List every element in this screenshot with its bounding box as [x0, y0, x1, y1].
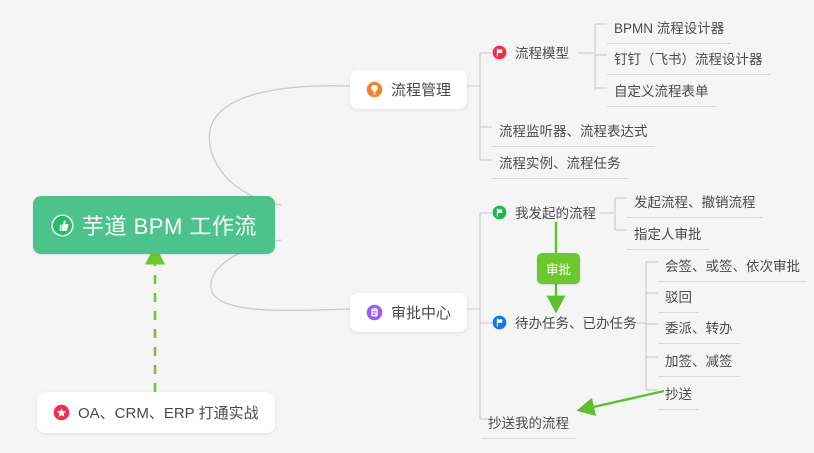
floating-node-label-oa-crm-erp: OA、CRM、ERP 打通实战: [78, 402, 259, 423]
link-root-to-process-management: [209, 86, 350, 205]
leaf-node-bpmn-designer[interactable]: BPMN 流程设计器: [607, 13, 731, 44]
leaf-node-dingtalk-feishu-designer[interactable]: 钉钉（飞书）流程设计器: [607, 44, 770, 75]
annotation-tag-approval-label: 审批: [546, 259, 571, 278]
leaf-label-carbon-copy: 抄送: [665, 383, 692, 403]
floating-node-oa-crm-erp[interactable]: OA、CRM、ERP 打通实战: [37, 392, 275, 433]
leaf-label-reject: 驳回: [665, 286, 692, 306]
branch-label-process-management: 流程管理: [391, 79, 451, 100]
thumbs-up-icon: [51, 214, 74, 237]
leaf-label-process-listener-expression: 流程监听器、流程表达式: [499, 120, 648, 140]
node-my-initiated-processes[interactable]: 我发起的流程: [492, 202, 596, 222]
lightbulb-icon: [366, 81, 383, 98]
leaf-label-custom-process-form: 自定义流程表单: [614, 80, 709, 100]
leaf-node-process-listener-expression[interactable]: 流程监听器、流程表达式: [492, 116, 655, 147]
leaf-node-custom-process-form[interactable]: 自定义流程表单: [607, 76, 716, 107]
leaf-label-delegate-transfer: 委派、转办: [665, 317, 733, 337]
node-process-model[interactable]: 流程模型: [492, 42, 569, 62]
node-todo-done-tasks[interactable]: 待办任务、已办任务: [492, 312, 637, 332]
node-label-todo-done-tasks: 待办任务、已办任务: [515, 312, 637, 332]
leaf-label-assignee-approval: 指定人审批: [634, 223, 702, 243]
leaf-label-bpmn-designer: BPMN 流程设计器: [614, 17, 724, 37]
mindmap-canvas: 芋道 BPM 工作流 流程管理 流程模型 BPMN 流程设计器 钉钉（飞书）流程: [0, 0, 814, 453]
leaf-node-delegate-transfer[interactable]: 委派、转办: [658, 313, 740, 344]
leaf-label-start-cancel-process: 发起流程、撤销流程: [634, 191, 756, 211]
node-label-process-model: 流程模型: [515, 42, 569, 62]
annotation-tag-approval[interactable]: 审批: [537, 253, 580, 284]
leaf-label-process-instance-task: 流程实例、流程任务: [499, 152, 621, 172]
leaf-node-assignee-approval[interactable]: 指定人审批: [627, 219, 709, 250]
leaf-node-add-remove-sign[interactable]: 加签、减签: [658, 346, 740, 377]
leaf-label-cc-to-me-processes: 抄送我的流程: [488, 412, 569, 432]
branch-node-process-management[interactable]: 流程管理: [350, 70, 467, 109]
root-node[interactable]: 芋道 BPM 工作流: [33, 196, 275, 254]
branch-label-approval-center: 审批中心: [391, 302, 451, 323]
star-icon: [53, 404, 70, 421]
flag-icon: [492, 45, 507, 60]
clipboard-icon: [366, 304, 383, 321]
leaf-node-process-instance-task[interactable]: 流程实例、流程任务: [492, 148, 628, 179]
root-node-label: 芋道 BPM 工作流: [82, 209, 257, 241]
leaf-node-cc-to-me-processes[interactable]: 抄送我的流程: [481, 408, 576, 439]
node-label-my-initiated-processes: 我发起的流程: [515, 202, 596, 222]
flag-icon: [492, 315, 507, 330]
leaf-node-reject[interactable]: 驳回: [658, 282, 699, 313]
branch-node-approval-center[interactable]: 审批中心: [350, 293, 467, 332]
leaf-label-dingtalk-feishu-designer: 钉钉（飞书）流程设计器: [614, 48, 763, 68]
flag-icon: [492, 205, 507, 220]
leaf-label-countersign-orsign-sequential: 会签、或签、依次审批: [665, 255, 800, 275]
arrow-cc-to-ccme: [580, 391, 664, 410]
leaf-label-add-remove-sign: 加签、减签: [665, 350, 733, 370]
leaf-node-countersign-orsign-sequential[interactable]: 会签、或签、依次审批: [658, 251, 807, 282]
leaf-node-carbon-copy[interactable]: 抄送: [658, 379, 699, 410]
leaf-node-start-cancel-process[interactable]: 发起流程、撤销流程: [627, 187, 763, 218]
